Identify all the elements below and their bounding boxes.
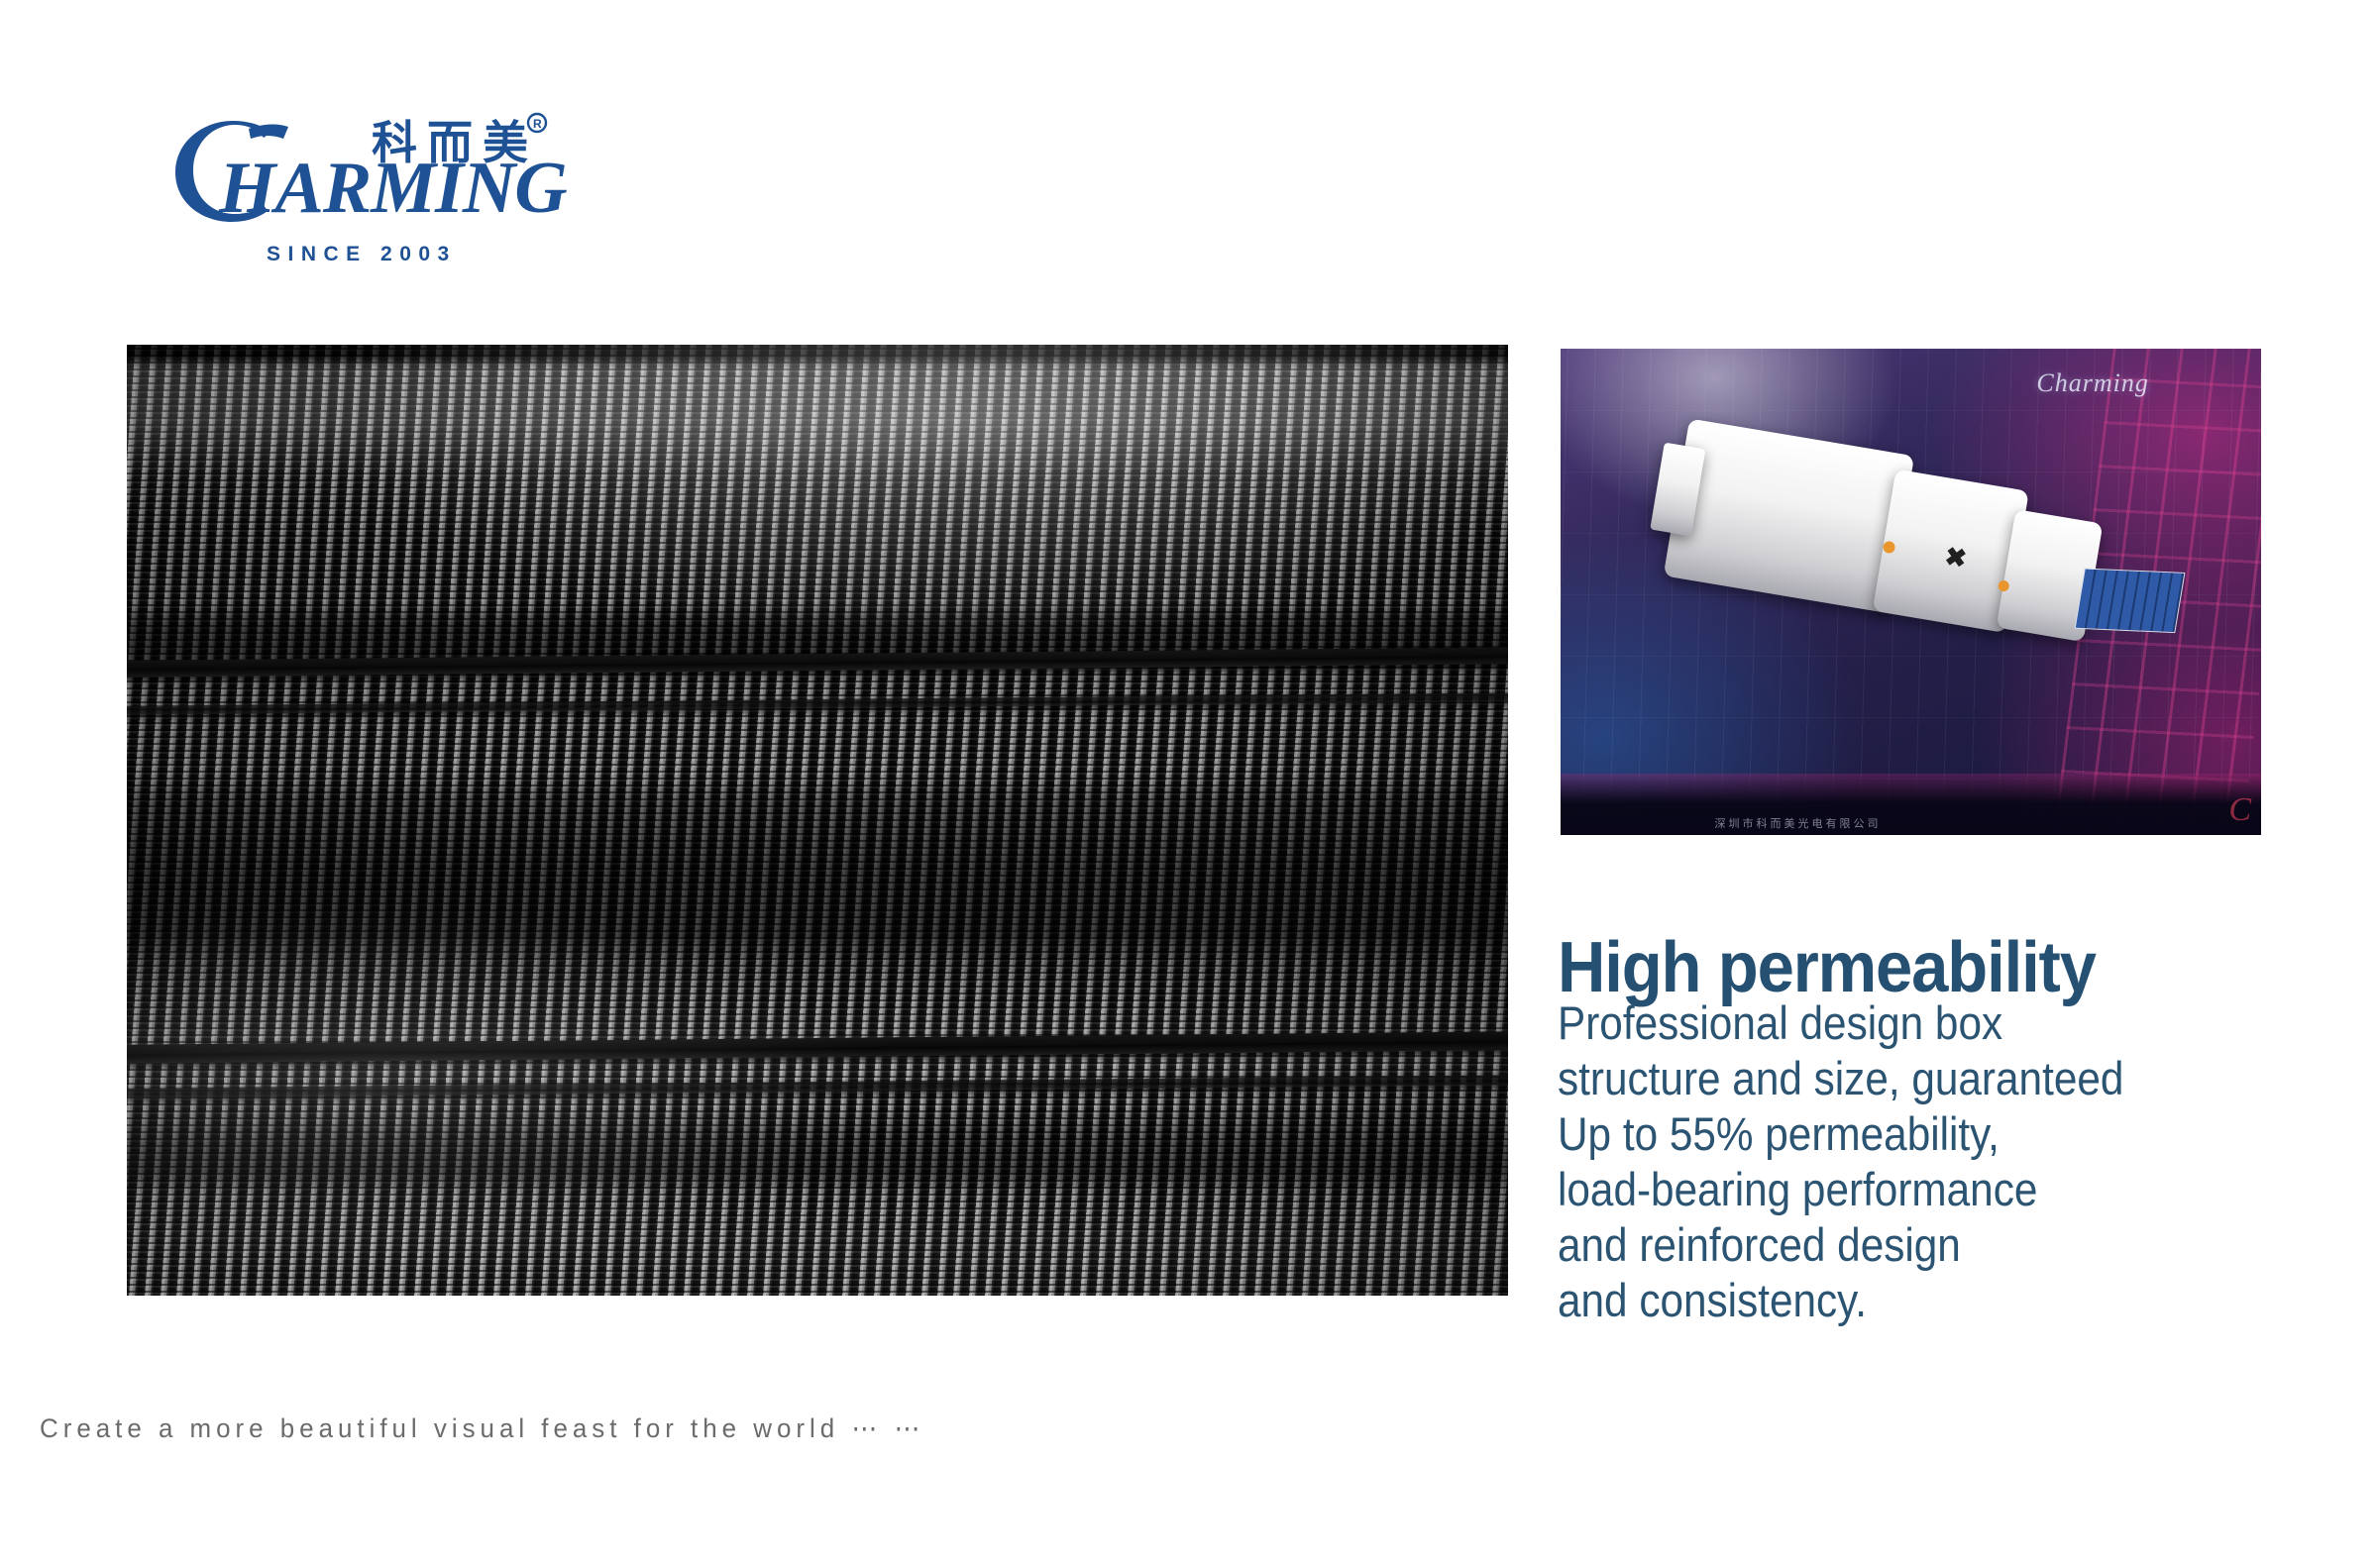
stage-screen-caption: 深圳市科而美光电有限公司	[1715, 815, 1882, 831]
body-description: Professional design box structure and si…	[1558, 995, 2342, 1328]
stage-screen-logo: Charming	[2036, 368, 2148, 398]
craft-x-marking: ✖	[1943, 543, 1969, 572]
body-line: load-bearing performance	[1558, 1162, 2342, 1217]
led-wall-stage-photo: ✖ Charming 深圳市科而美光电有限公司 C	[1561, 349, 2261, 835]
logo-since-label: SINCE 2003	[267, 243, 457, 266]
page-title: High permeability	[1558, 932, 2096, 1003]
svg-text:科: 科	[372, 116, 417, 169]
body-line: Up to 55% permeability,	[1558, 1106, 2342, 1162]
body-line: Professional design box	[1558, 995, 2342, 1051]
body-line: and reinforced design	[1558, 1217, 2342, 1273]
led-photo-lighting	[127, 345, 1508, 1296]
body-line: and consistency.	[1558, 1273, 2342, 1328]
registered-trademark-icon: R	[528, 114, 546, 132]
svg-text:美: 美	[483, 116, 528, 169]
svg-text:R: R	[533, 117, 542, 131]
footer-tagline: Create a more beautiful visual feast for…	[40, 1413, 924, 1444]
svg-text:而: 而	[427, 116, 473, 169]
transparent-led-panel-photo	[127, 345, 1508, 1296]
charming-logo-icon: HARMING 科 而 美 R	[142, 107, 578, 236]
slide-page: HARMING 科 而 美 R SINCE 2003	[0, 0, 2378, 1568]
brand-logo: HARMING 科 而 美 R SINCE 2003	[142, 107, 578, 275]
body-line: structure and size, guaranteed	[1558, 1051, 2342, 1106]
stage-corner-logo: C	[2228, 791, 2251, 829]
stage-floor-glow	[1561, 774, 2261, 835]
